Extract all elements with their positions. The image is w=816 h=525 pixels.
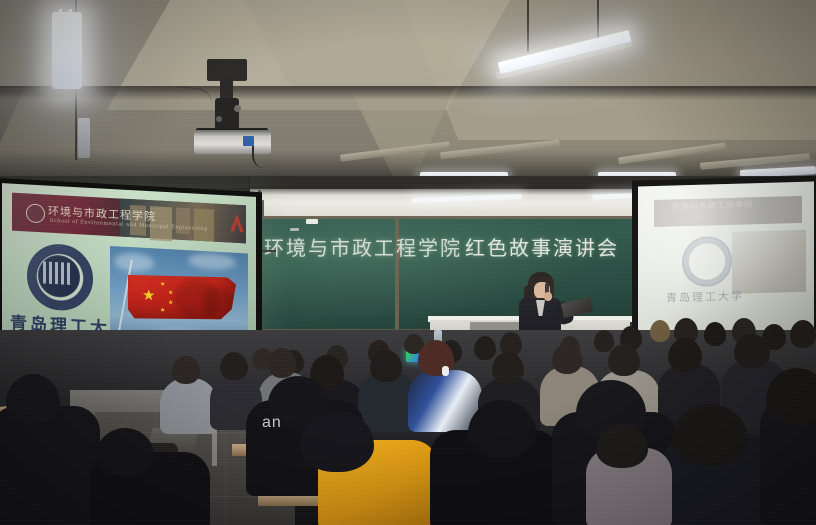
- ceiling: [0, 0, 816, 192]
- audience-head: [474, 336, 496, 360]
- audience-head-foreground: [96, 428, 154, 476]
- projector-mount-yoke: [215, 98, 239, 132]
- pendant-light-left: [52, 12, 82, 89]
- audience-head-foreground: [6, 374, 60, 424]
- audience-head: [492, 352, 524, 384]
- audience-head: [790, 320, 816, 348]
- lamp-rod: [527, 0, 529, 52]
- audience-body-foreground: [0, 406, 100, 525]
- university-seal-glyph: [43, 261, 73, 285]
- audience-head-foreground: [672, 404, 748, 466]
- audience-head-foreground: [300, 410, 374, 472]
- audience-head: [650, 320, 670, 342]
- chalk-piece: [290, 228, 299, 231]
- flag-star-large: ★: [142, 288, 155, 304]
- slide-header-seal-icon: [26, 203, 45, 223]
- audience-head: [268, 348, 296, 378]
- projector-port: [243, 136, 254, 146]
- right-screen-glare: [638, 182, 814, 337]
- audience-head: [220, 352, 248, 380]
- cloud: [188, 252, 236, 271]
- ceiling-fixture-off: [78, 118, 90, 158]
- chalk-piece: [306, 219, 318, 224]
- projector-cable: [252, 146, 272, 168]
- projector-adjust-knob: [234, 105, 241, 112]
- audience-head: [704, 322, 726, 346]
- earbud-icon: [442, 366, 449, 376]
- flag-star-small: ★: [168, 300, 173, 306]
- flag-star-small: ★: [160, 282, 165, 288]
- projector-adjust-knob: [216, 116, 222, 122]
- flag-fold: [202, 286, 234, 322]
- audience-head-foreground: [468, 400, 536, 458]
- speaker-hand: [544, 292, 552, 301]
- blackboard-text-right: 红色故事演讲会: [465, 232, 619, 261]
- audience-head: [594, 330, 614, 352]
- audience-head-foreground: [596, 424, 648, 468]
- flag-star-small: ★: [160, 308, 165, 314]
- ceiling-shadow: [0, 86, 816, 100]
- cloud: [114, 252, 154, 272]
- slide-header-band: 环境与市政工程学院 School of Environmental and Mu…: [12, 193, 246, 244]
- flag-star-small: ★: [168, 290, 173, 296]
- audience-head: [370, 350, 402, 382]
- lamp-rod: [597, 0, 599, 38]
- lecture-hall-photo: 环境与市政工程学院 红色故事演讲会 环境与市政工程学院 School of En…: [0, 0, 816, 525]
- audience-head: [172, 356, 200, 384]
- audience-head: [734, 334, 770, 368]
- audience-head: [668, 338, 702, 372]
- lamp-rod: [75, 90, 77, 160]
- projector-mount-plate: [207, 59, 247, 81]
- audience-head: [608, 344, 640, 376]
- audience-head: [552, 344, 582, 374]
- blackboard-text-left: 环境与市政工程学院: [264, 232, 462, 261]
